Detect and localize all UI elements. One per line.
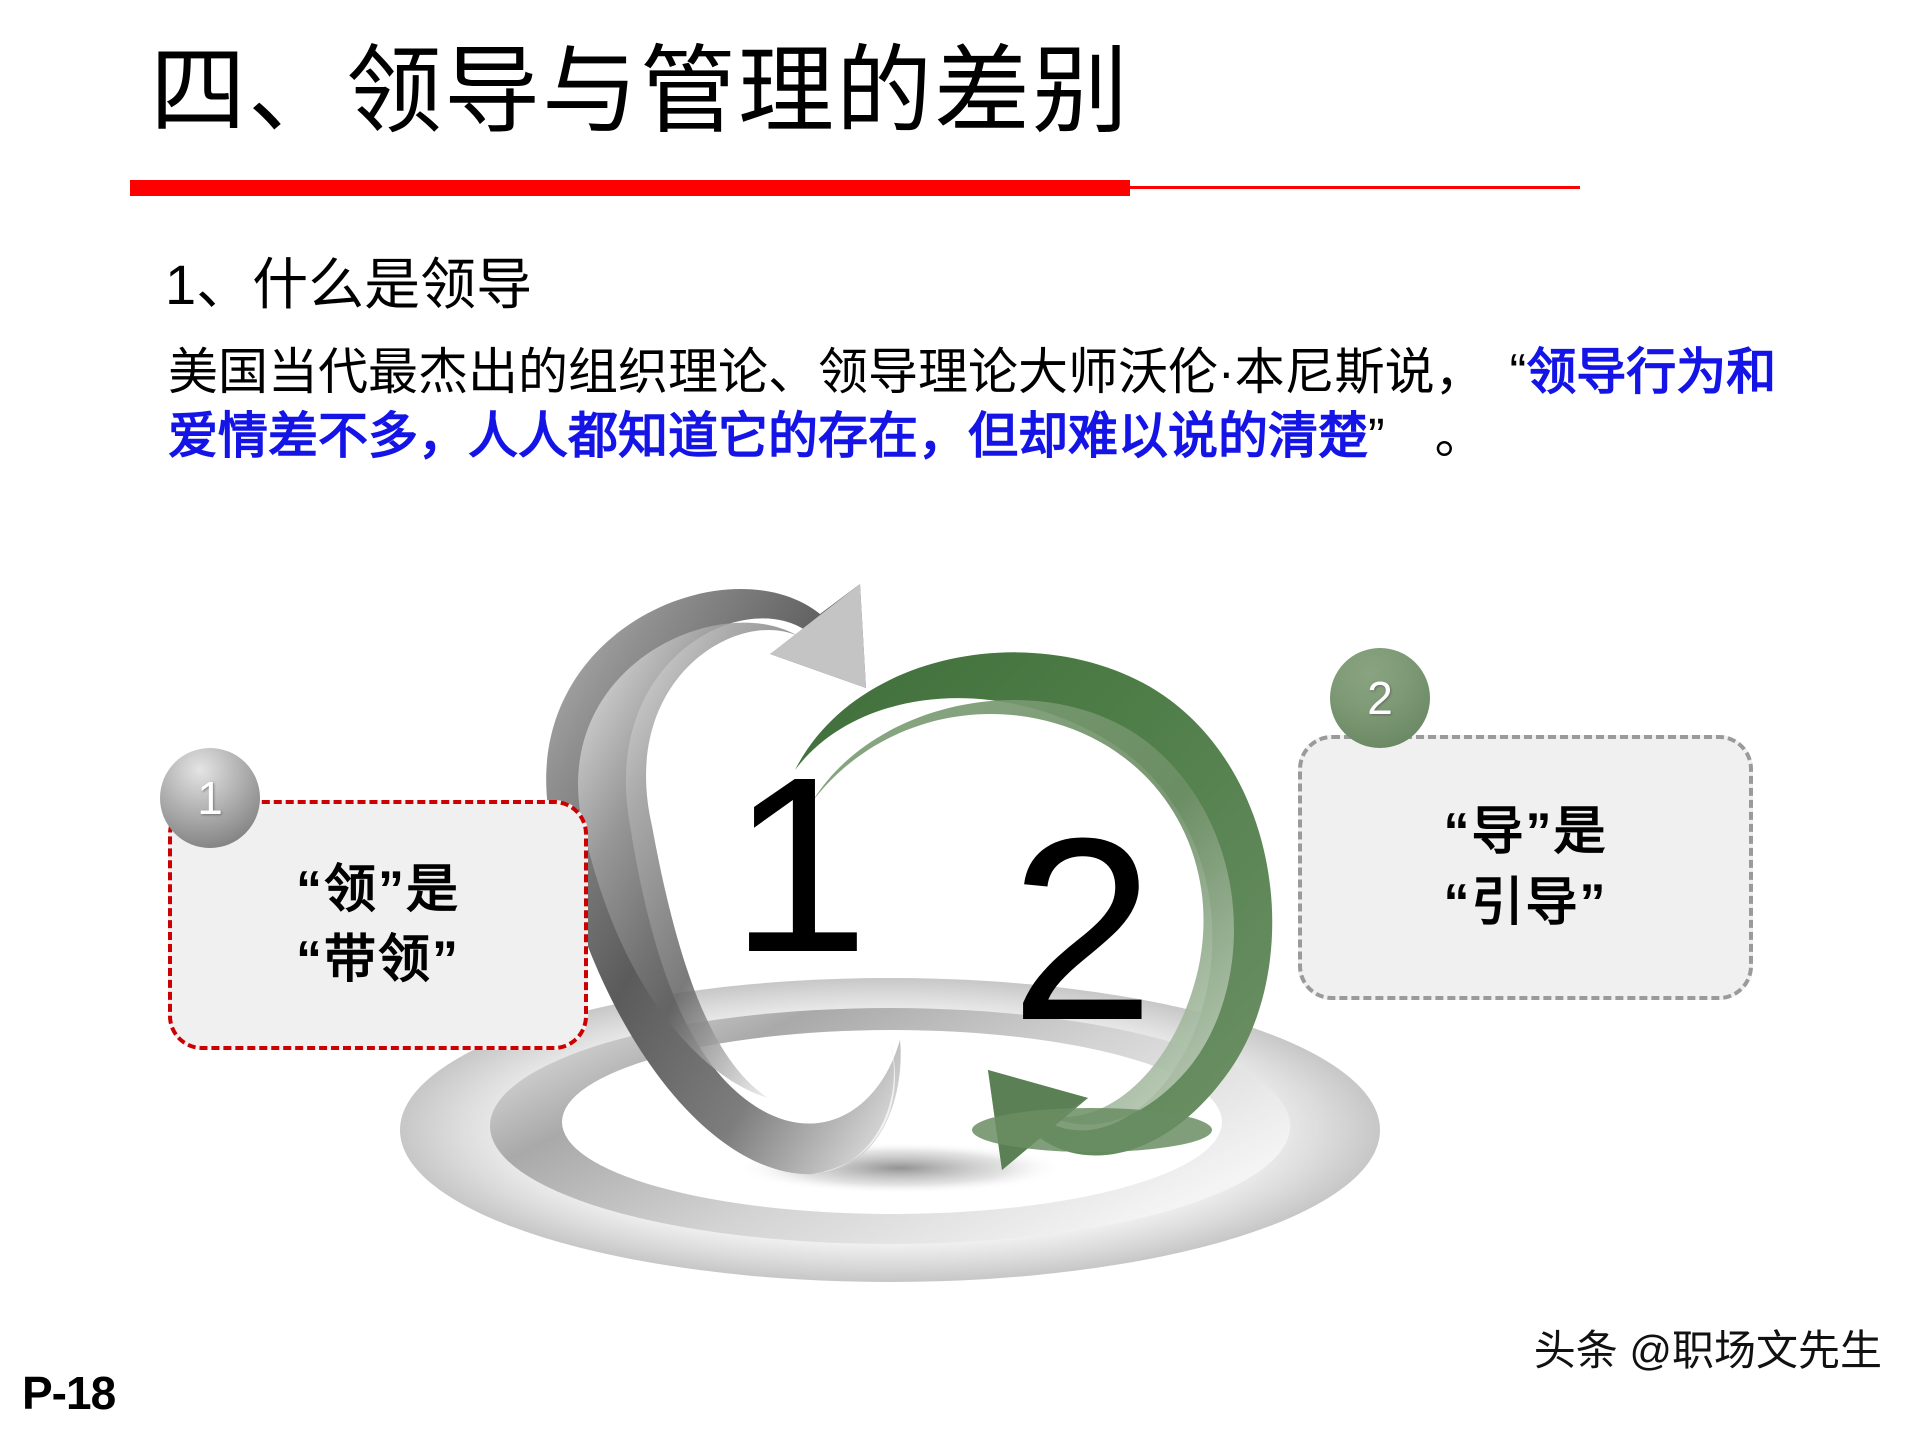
title-underline-thin-rule: [1130, 186, 1580, 189]
callout-2-line-1: “导”是: [1443, 797, 1607, 867]
callout-1-number-badge: 1: [160, 748, 260, 848]
paragraph-tail: ” 。: [1368, 408, 1485, 464]
step-digit-2: 2: [1010, 800, 1155, 1060]
author-watermark: 头条 @职场文先生: [1534, 1317, 1882, 1378]
callout-2-line-2: “引导”: [1443, 868, 1607, 938]
callout-box-2[interactable]: “导”是 “引导”: [1298, 735, 1753, 1000]
page-title: 四、领导与管理的差别: [150, 42, 1130, 143]
callout-2-number-badge: 2: [1330, 648, 1430, 748]
paragraph-lead-1: 美国当代最杰出的组织理论、领导理论大师沃伦·本尼: [168, 344, 1335, 400]
callout-1-line-1: “领”是: [296, 855, 460, 925]
title-underline-bar: [130, 180, 1130, 196]
section-subheading: 1、什么是领导: [165, 240, 532, 321]
body-paragraph: 美国当代最杰出的组织理论、领导理论大师沃伦·本尼斯说， “领导行为和爱情差不多，…: [168, 340, 1778, 468]
callout-1-line-2: “带领”: [296, 925, 460, 995]
paragraph-lead-2: 斯说， “: [1335, 344, 1527, 400]
step-digit-1: 1: [730, 740, 869, 990]
page-number-label: P-18: [22, 1366, 115, 1420]
